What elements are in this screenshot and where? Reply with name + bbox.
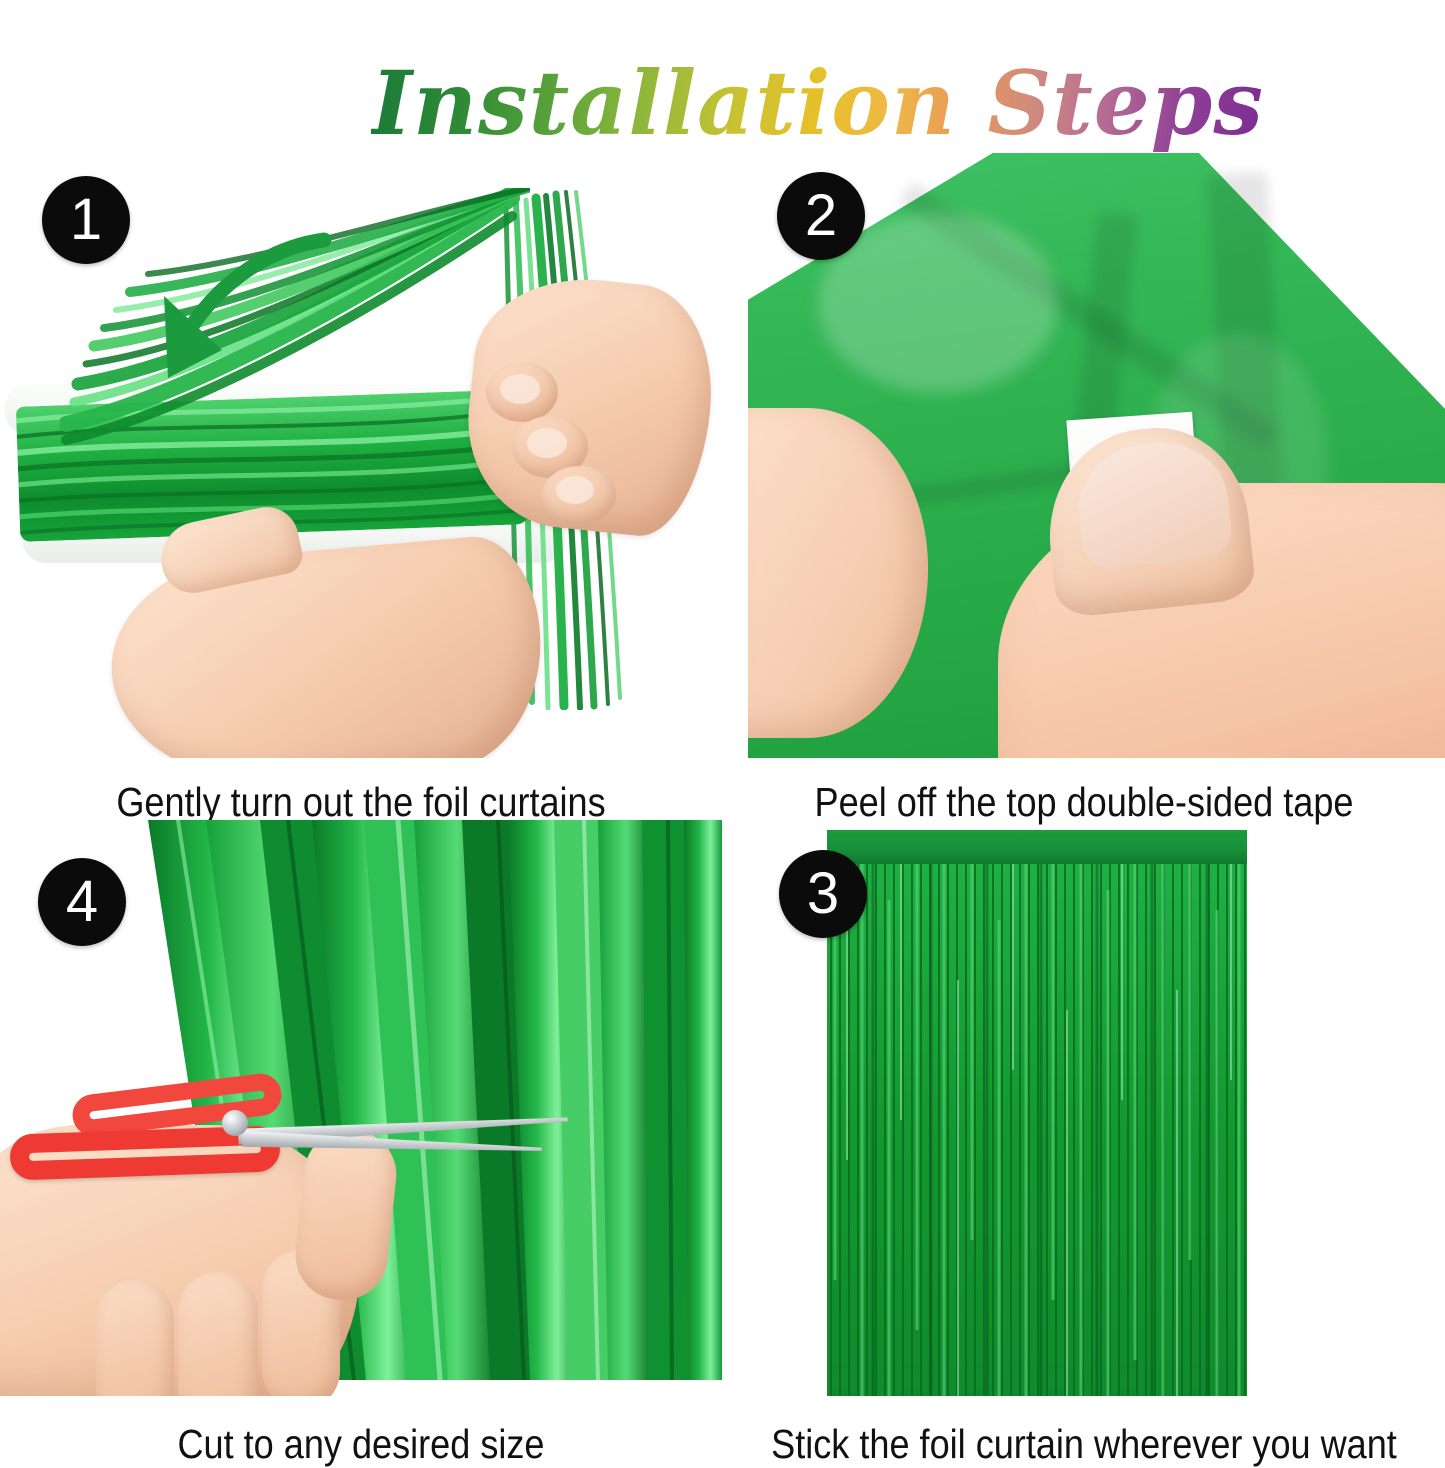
finger-2 [178, 1272, 258, 1396]
page-title-gradient: Installation Steps [371, 51, 1264, 155]
step-panel-2: 2 Peel off the top double-sided tape [723, 130, 1445, 830]
step-panel-4: 4 Cut to any desired size [0, 820, 722, 1468]
curved-down-left-arrow-icon [96, 230, 336, 415]
installation-steps-poster: Installation Steps Installation Steps 1 [0, 0, 1445, 1468]
step-4-illustration: 4 [0, 820, 722, 1396]
fingernail-2 [527, 428, 567, 458]
scissor-pivot-screw [222, 1110, 248, 1136]
step-3-caption: Stick the foil curtain wherever you want [766, 1423, 1401, 1466]
page-title: Installation Steps Installation Steps [0, 0, 1445, 118]
step-panel-1: 1 [0, 130, 722, 830]
step-panel-3: 3 Stick the foil curtain wherever you wa… [723, 820, 1445, 1468]
step-number-badge-2: 2 [777, 172, 865, 260]
step-4-caption: Cut to any desired size [43, 1423, 678, 1466]
step-number-badge-1: 1 [42, 176, 130, 264]
step-1-caption: Gently turn out the foil curtains [43, 781, 678, 824]
step-number-badge-4: 4 [38, 858, 126, 946]
curtain-top-header-strip [827, 830, 1247, 864]
fingernail-3 [556, 476, 594, 504]
fingernail-1 [500, 374, 540, 404]
step-2-caption: Peel off the top double-sided tape [766, 781, 1401, 824]
curtain-fringe-strands [827, 860, 1247, 1396]
hanging-foil-fringe-curtain [827, 830, 1247, 1396]
step-1-illustration: 1 [0, 130, 722, 758]
left-hand-supporting [748, 408, 928, 738]
step-3-illustration: 3 [723, 820, 1445, 1396]
step-number-badge-3: 3 [779, 850, 867, 938]
finger-1 [96, 1280, 174, 1396]
